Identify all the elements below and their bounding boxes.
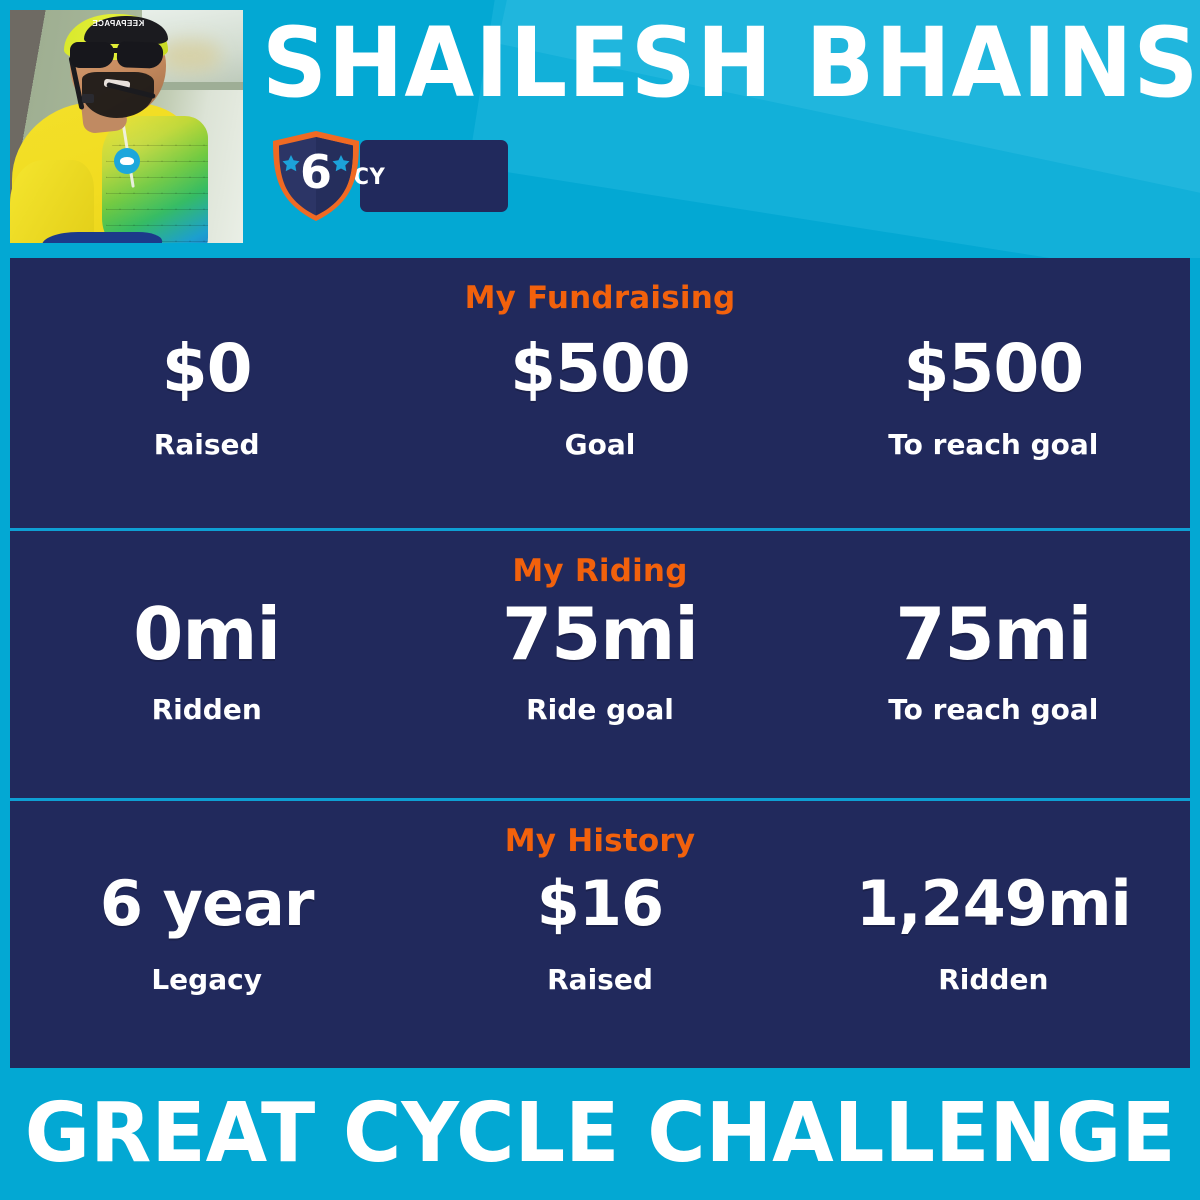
photo-jersey-logo — [114, 148, 140, 174]
history-stat-columns: 6 year Legacy $16 Raised 1,249mi Ridden — [10, 863, 1190, 1053]
stat-value: $500 — [903, 328, 1083, 410]
stat-history-ridden: 1,249mi Ridden — [797, 863, 1190, 1053]
stat-value: $0 — [162, 328, 252, 410]
stat-label: Goal — [565, 428, 636, 462]
stat-to-reach-goal: $500 To reach goal — [797, 328, 1190, 518]
stat-value: 1,249mi — [856, 863, 1131, 945]
section-title-history: My History — [10, 823, 1190, 859]
section-my-fundraising: My Fundraising $0 Raised $500 Goal $500 … — [10, 258, 1190, 528]
poster-footer: GREAT CYCLE CHALLENGE — [0, 1068, 1200, 1200]
fundraising-stat-columns: $0 Raised $500 Goal $500 To reach goal — [10, 328, 1190, 518]
photo-shorts — [42, 232, 162, 243]
poster-header: KEEPAPACE SHAILESH BHAINSORA YEAR LEGACY — [0, 0, 1200, 258]
stat-value: $500 — [510, 328, 690, 410]
photo-sunglasses — [70, 42, 170, 70]
stats-panel: My Fundraising $0 Raised $500 Goal $500 … — [10, 258, 1190, 1068]
photo-arm — [10, 160, 94, 243]
stat-ride-to-reach-goal: 75mi To reach goal — [797, 593, 1190, 783]
stat-ridden: 0mi Ridden — [10, 593, 403, 783]
photo-sunglasses-left-lens — [70, 42, 114, 68]
section-title-fundraising: My Fundraising — [10, 280, 1190, 316]
stat-label: To reach goal — [888, 693, 1098, 727]
stat-value: $16 — [537, 863, 663, 945]
athlete-name: SHAILESH BHAINSORA — [262, 8, 1136, 118]
stat-ride-goal: 75mi Ride goal — [403, 593, 796, 783]
stat-value: 0mi — [133, 593, 280, 675]
stat-raised: $0 Raised — [10, 328, 403, 518]
riding-stat-columns: 0mi Ridden 75mi Ride goal 75mi To reach … — [10, 593, 1190, 783]
stat-label: Ridden — [938, 963, 1048, 997]
event-name: GREAT CYCLE CHALLENGE — [25, 1093, 1176, 1175]
stat-value: 75mi — [895, 593, 1091, 675]
legacy-badge-years: 6 — [268, 128, 364, 224]
stat-legacy: 6 year Legacy — [10, 863, 403, 1053]
photo-sunglasses-right-lens — [117, 41, 164, 69]
photo-jersey-hex-pattern — [106, 130, 208, 243]
stat-value: 75mi — [502, 593, 698, 675]
section-title-riding: My Riding — [10, 553, 1190, 589]
stat-label: Ride goal — [526, 693, 674, 727]
stat-goal: $500 Goal — [403, 328, 796, 518]
photo-strap-buckle — [82, 94, 94, 103]
section-my-history: My History 6 year Legacy $16 Raised 1,24… — [10, 798, 1190, 1068]
section-my-riding: My Riding 0mi Ridden 75mi Ride goal 75mi… — [10, 528, 1190, 798]
stat-label: To reach goal — [888, 428, 1098, 462]
stat-label: Legacy — [151, 963, 262, 997]
stat-label: Ridden — [152, 693, 262, 727]
stat-label: Raised — [547, 963, 653, 997]
stat-history-raised: $16 Raised — [403, 863, 796, 1053]
avatar: KEEPAPACE — [10, 10, 243, 243]
legacy-badge: YEAR LEGACY 6 — [268, 128, 508, 224]
photo-cap-text: KEEPAPACE — [92, 19, 144, 28]
stat-label: Raised — [154, 428, 260, 462]
fundraising-poster: KEEPAPACE SHAILESH BHAINSORA YEAR LEGACY — [0, 0, 1200, 1200]
stat-value: 6 year — [100, 863, 314, 945]
